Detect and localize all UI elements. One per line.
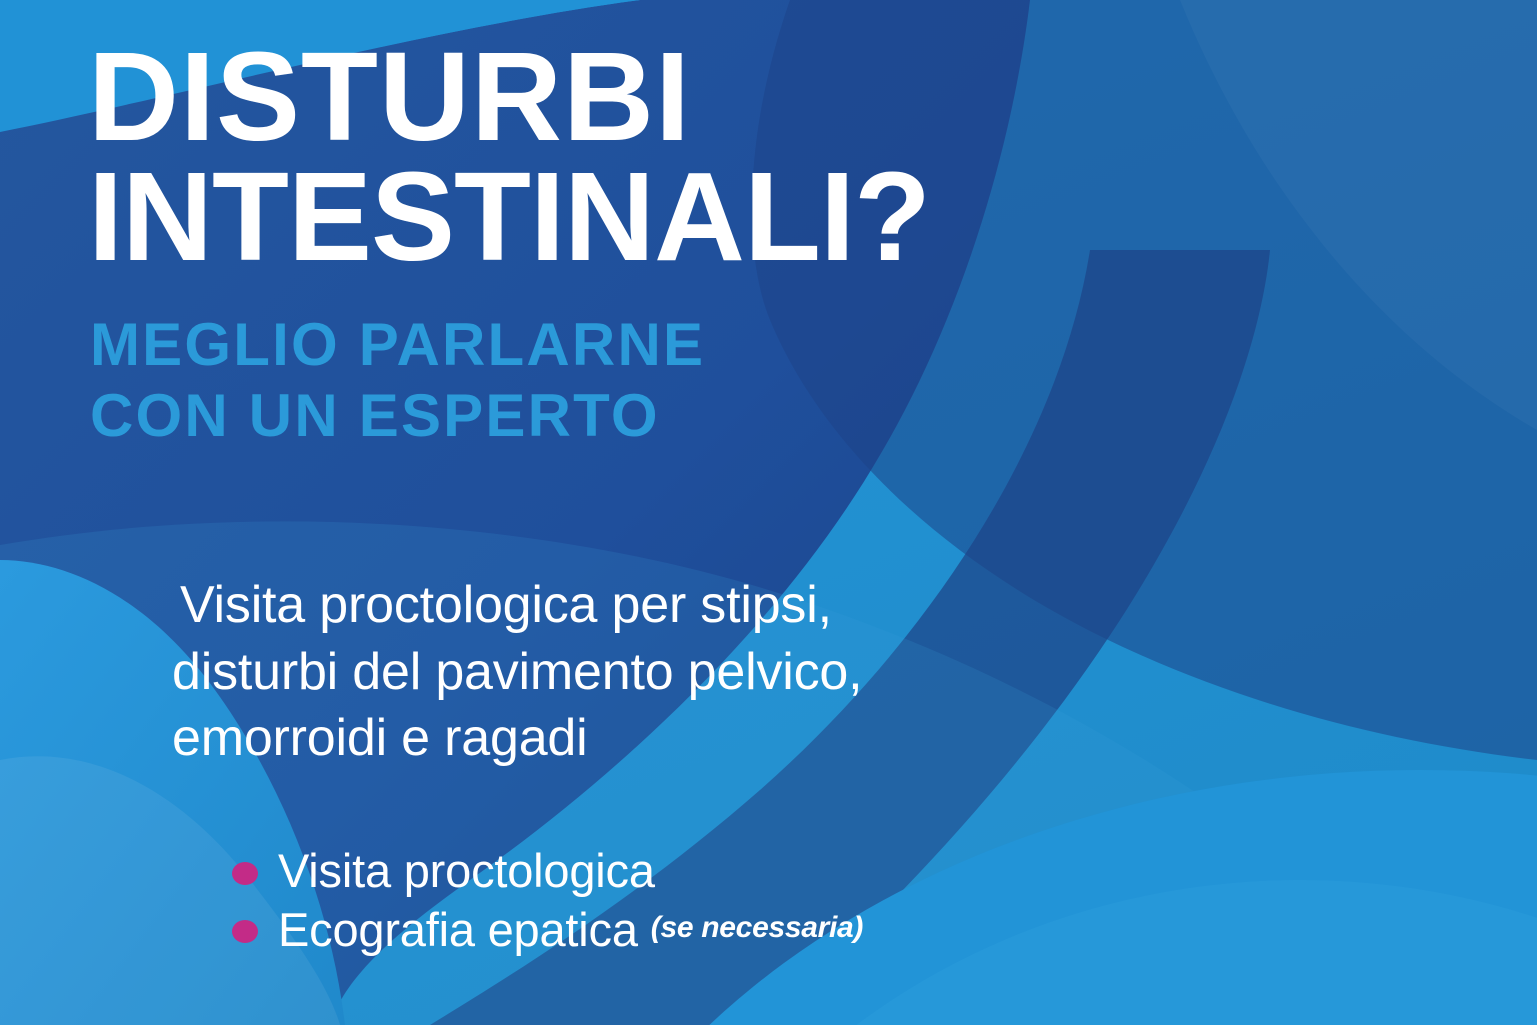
service-label: Ecografia epatica [278,904,638,957]
subtitle-line-1: MEGLIO PARLARNE [90,310,705,381]
description-line-2: disturbi del pavimento pelvico, [172,639,1072,706]
services-list: Visita proctologica Ecografia epatica (s… [232,845,863,962]
description-text: Visita proctologica per stipsi, disturbi… [172,572,1072,772]
service-note: (se necessaria) [651,911,863,945]
list-item: Visita proctologica [232,845,863,898]
subtitle: MEGLIO PARLARNE CON UN ESPERTO [90,310,705,452]
list-item: Ecografia epatica (se necessaria) [232,904,863,957]
poster-content: DISTURBI INTESTINALI? MEGLIO PARLARNE CO… [0,0,1537,1025]
poster-canvas: DISTURBI INTESTINALI? MEGLIO PARLARNE CO… [0,0,1537,1025]
headline: DISTURBI INTESTINALI? [88,44,930,270]
description-line-1: Visita proctologica per stipsi, [172,572,1072,639]
bullet-dot-icon [232,920,258,943]
bullet-dot-icon [232,862,258,885]
description-line-3: emorroidi e ragadi [172,705,1072,772]
service-label: Visita proctologica [278,845,655,898]
subtitle-line-2: CON UN ESPERTO [90,381,705,452]
headline-line-1: DISTURBI [88,44,930,150]
headline-line-2: INTESTINALI? [88,164,930,270]
